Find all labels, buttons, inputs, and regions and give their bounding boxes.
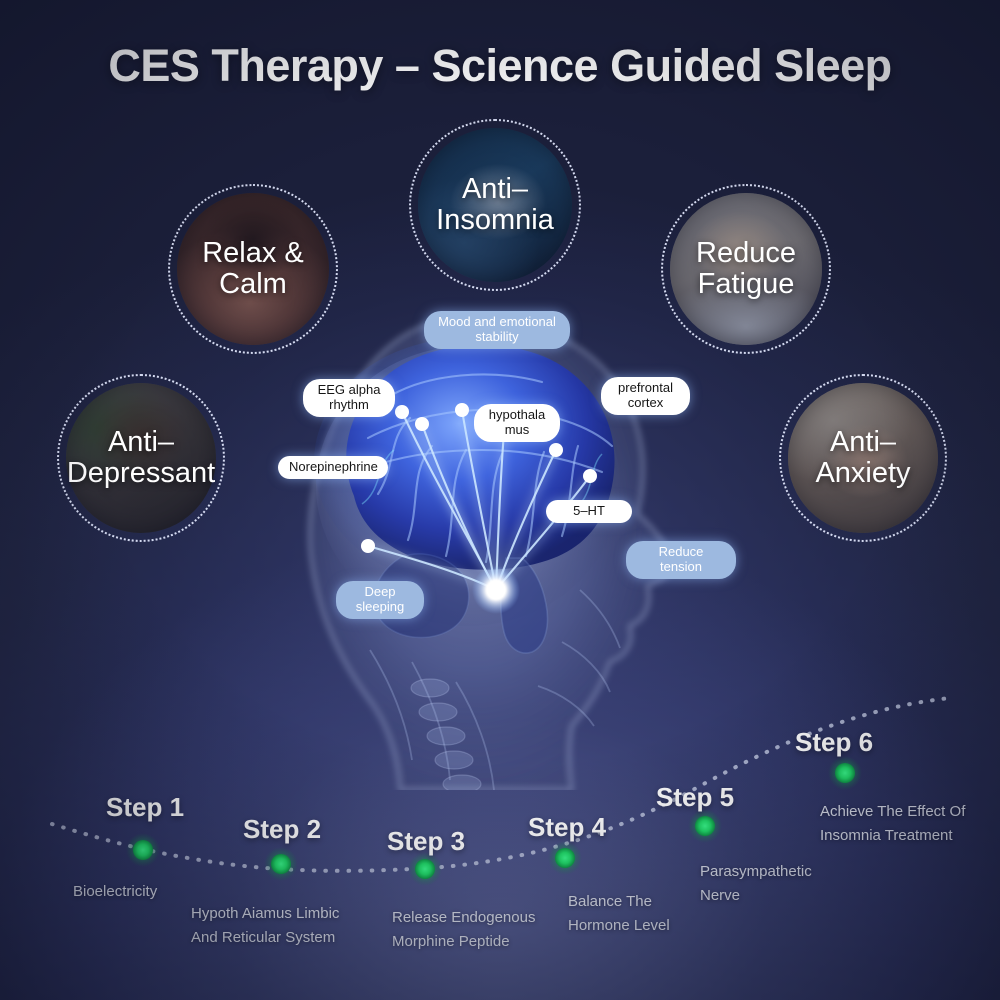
step-desc-5: Parasympathetic Nerve — [700, 860, 812, 909]
callout-mood-stability: Mood and emotional stability — [424, 311, 570, 349]
badge-anti-anxiety[interactable]: Anti– Anxiety — [779, 374, 947, 542]
callout-deep-sleeping: Deep sleeping — [336, 581, 424, 619]
step-desc-6: Achieve The Effect Of Insomnia Treatment — [820, 800, 965, 849]
step-desc-2: Hypoth Aiamus Limbic And Reticular Syste… — [191, 902, 339, 951]
step-label-5: Step 5 — [656, 782, 734, 813]
brain-mass — [346, 345, 614, 570]
badge-dotted-ring — [168, 184, 338, 354]
badge-relax-calm[interactable]: Relax & Calm — [168, 184, 338, 354]
badge-dotted-ring — [779, 374, 947, 542]
badge-anti-insomnia[interactable]: Anti– Insomnia — [409, 119, 581, 291]
badge-dotted-ring — [57, 374, 225, 542]
step-label-3: Step 3 — [387, 826, 465, 857]
callout-prefrontal-cortex: prefrontal cortex — [601, 377, 690, 415]
step-label-1: Step 1 — [106, 792, 184, 823]
step-desc-1: Bioelectricity — [73, 880, 157, 904]
step-label-4: Step 4 — [528, 812, 606, 843]
step-desc-3: Release Endogenous Morphine Peptide — [392, 906, 535, 955]
infographic-canvas: CES Therapy – Science Guided Sleep — [0, 0, 1000, 1000]
step-label-2: Step 2 — [243, 814, 321, 845]
brain-hub-node — [472, 566, 520, 614]
badge-anti-depressant[interactable]: Anti– Depressant — [57, 374, 225, 542]
step-desc-4: Balance The Hormone Level — [568, 890, 670, 939]
badge-dotted-ring — [409, 119, 581, 291]
badge-dotted-ring — [661, 184, 831, 354]
callout-norepinephrine: Norepinephrine — [278, 456, 388, 479]
callout-eeg-alpha-rhythm: EEG alpha rhythm — [303, 379, 395, 417]
page-title: CES Therapy – Science Guided Sleep — [0, 40, 1000, 92]
badge-reduce-fatigue[interactable]: Reduce Fatigue — [661, 184, 831, 354]
callout-hypothalamus: hypothala mus — [474, 404, 560, 442]
callout-reduce-tension: Reduce tension — [626, 541, 736, 579]
step-label-6: Step 6 — [795, 727, 873, 758]
callout-5ht: 5–HT — [546, 500, 632, 523]
